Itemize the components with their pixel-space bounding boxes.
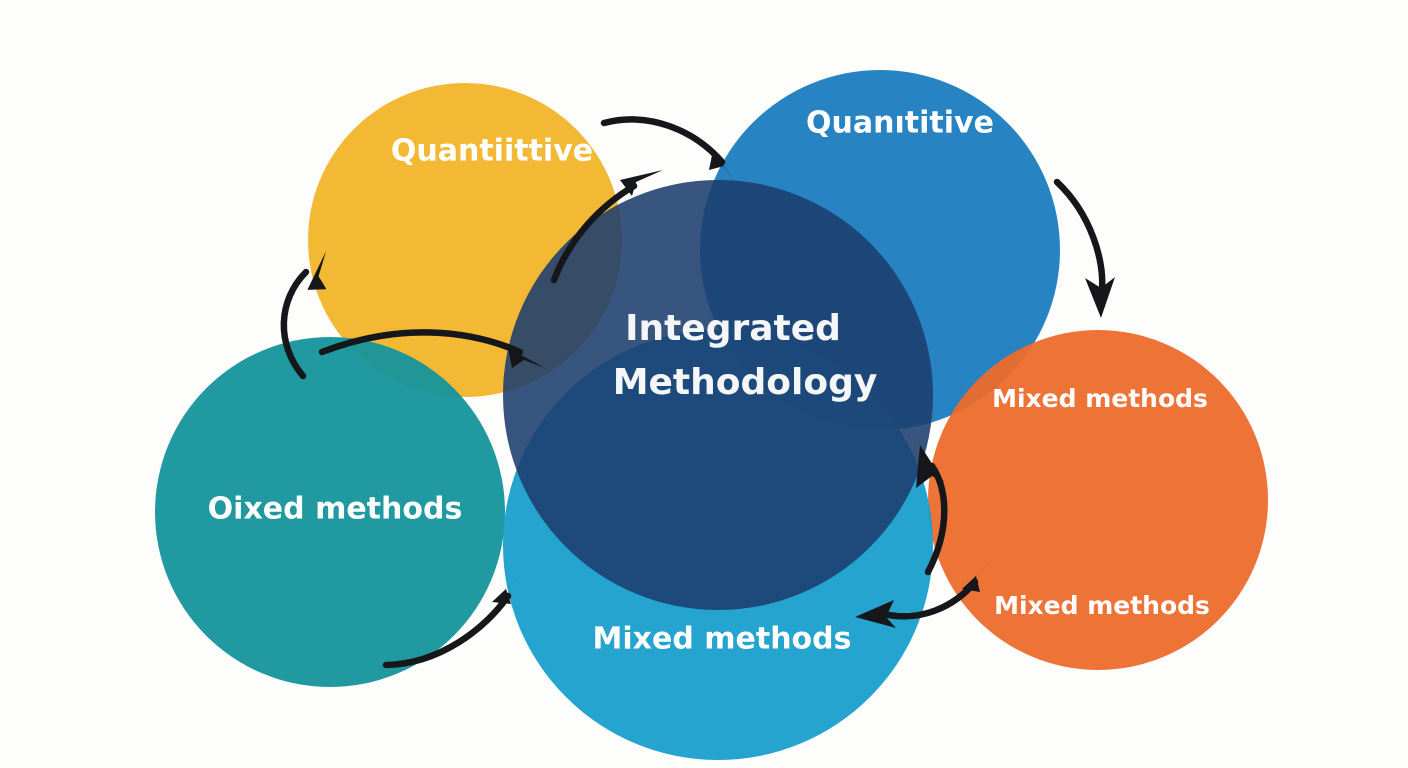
- label-mixed-methods-orange-lower: Mixed methods: [994, 591, 1210, 620]
- label-mixed-methods-lightblue: Mixed methods: [593, 622, 852, 657]
- label-mixed-methods-teal: Oixed methods: [208, 492, 463, 527]
- label-quantitative-yellow: Quantiittive: [391, 134, 593, 169]
- label-mixed-methods-orange: Mixed methods: [992, 384, 1208, 413]
- label-quantitative-blue: Quanıtitive: [806, 106, 994, 141]
- center-label-line2: Methodology: [613, 362, 878, 403]
- venn-diagram: Quantiittive Quanıtitive Oixed methods M…: [0, 0, 1408, 768]
- diagram-canvas: Quantiittive Quanıtitive Oixed methods M…: [0, 0, 1408, 768]
- center-label-line1: Integrated: [625, 308, 841, 349]
